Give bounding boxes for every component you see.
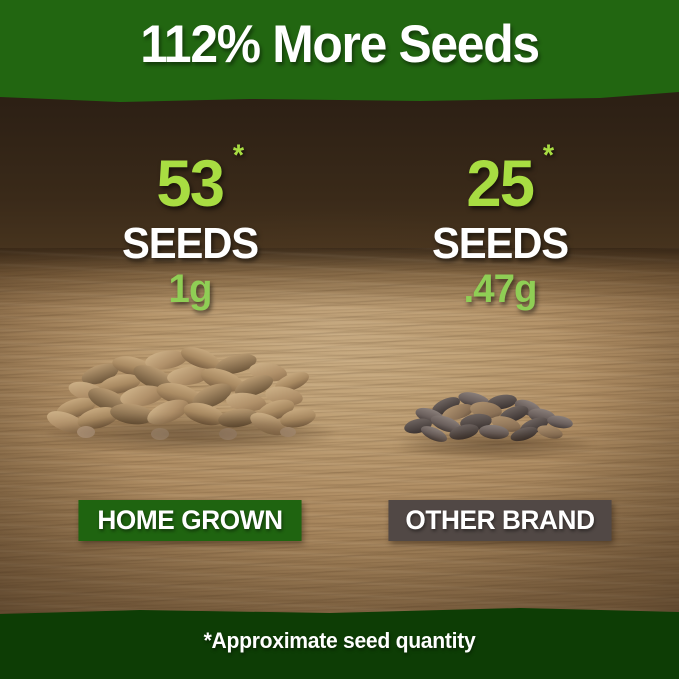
- other-brand-unit-label: SEEDS: [377, 222, 624, 266]
- home-grown-brand-banner: HOME GROWN: [78, 500, 301, 541]
- asterisk-marker: *: [543, 141, 552, 171]
- asterisk-marker: *: [233, 141, 242, 171]
- home-grown-weight: 1g: [65, 269, 315, 309]
- home-grown-seed-count: 53 *: [157, 150, 224, 216]
- home-grown-unit-label: SEEDS: [67, 222, 314, 266]
- pile-shadow: [46, 416, 334, 452]
- other-brand-stats: 25 * SEEDS .47g: [370, 150, 630, 309]
- pile-shadow: [398, 432, 592, 458]
- other-brand-banner: OTHER BRAND: [388, 500, 611, 541]
- home-grown-count-value: 53: [157, 146, 224, 220]
- other-brand-seed-count: 25 *: [467, 150, 534, 216]
- home-grown-seed-pile: [40, 338, 340, 460]
- other-brand-weight: .47g: [375, 269, 625, 309]
- other-brand-count-value: 25: [467, 146, 534, 220]
- seed-comparison-infographic: 112% More Seeds 53 * SEEDS 1g 25 * SEEDS…: [0, 0, 679, 679]
- page-title: 112% More Seeds: [20, 18, 658, 71]
- home-grown-stats: 53 * SEEDS 1g: [60, 150, 320, 309]
- footnote-text: *Approximate seed quantity: [14, 628, 666, 654]
- other-brand-seed-pile: [390, 388, 600, 458]
